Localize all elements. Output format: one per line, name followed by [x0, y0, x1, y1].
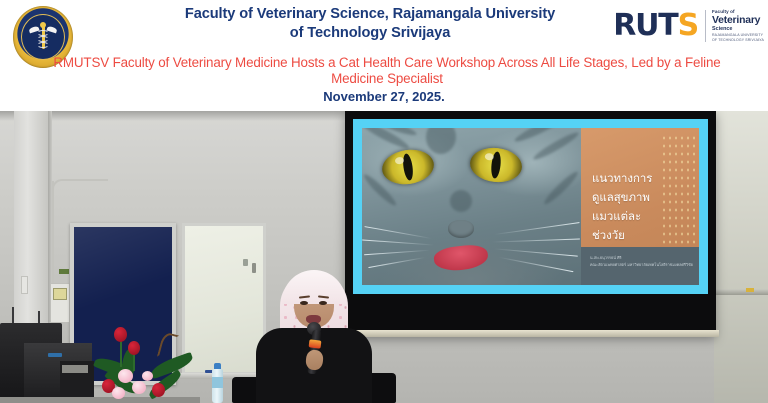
projection-screen: แนวทางการ ดูแลสุขภาพ แมวแต่ละ ช่วงวัย น.…	[345, 111, 716, 336]
av-papers	[62, 365, 88, 373]
slide-thai-line-1: แนวทางการ	[592, 169, 699, 188]
institution-title-line2: of Technology Srivijaya	[150, 24, 590, 43]
cat-nose	[448, 220, 474, 238]
slide-cat-photo	[362, 128, 581, 285]
ruts-wordmark-accent: S	[678, 8, 698, 43]
wall-rail-marker	[746, 288, 754, 292]
caduceus-coil-3	[37, 42, 49, 48]
fur-stripe	[425, 128, 457, 155]
presenter-eye-right	[319, 301, 327, 305]
av-indicator-light	[48, 353, 62, 357]
slide-thai-line-4: ช่วงวัย	[592, 226, 699, 245]
rose	[152, 383, 165, 397]
flower-arrangement	[88, 325, 208, 403]
slide-thai-line-2: ดูแลสุขภาพ	[592, 188, 699, 207]
wall-utility-label	[53, 288, 67, 300]
carnation	[118, 369, 133, 383]
rose	[114, 327, 127, 342]
carnation	[132, 381, 146, 394]
wall-cable	[52, 181, 54, 285]
caduceus-icon	[30, 23, 56, 53]
water-bottle-label	[212, 377, 223, 388]
slide-footer-credit: น.สพ.ธนุวรรธน์ ศิริ คณะสัตวแพทยศาสตร์ มห…	[581, 247, 699, 285]
fur-stripe	[450, 190, 472, 212]
wall-switch	[59, 269, 69, 274]
presenter-eye-left	[300, 301, 308, 305]
event-date: November 27, 2025.	[0, 89, 768, 104]
wall-cable-bend	[52, 179, 108, 193]
institution-title-line1: Faculty of Veterinary Science, Rajamanga…	[150, 5, 590, 24]
hijab-front-edge	[282, 270, 346, 304]
wall-plate	[21, 276, 28, 294]
cat-pupil-left	[402, 153, 415, 181]
ruts-logo-text: Faculty of Veterinary Science RAJAMANGAL…	[712, 9, 764, 42]
slide-footer-line-2: คณะสัตวแพทยศาสตร์ มหาวิทยาลัยเทคโนโลยีรา…	[590, 261, 699, 268]
slide-footer-line-1: น.สพ.ธนุวรรธน์ ศิริ	[590, 254, 699, 261]
ruts-wordmark: RUTS	[613, 11, 698, 41]
wall-right-of-screen	[714, 111, 768, 403]
ruts-text-line3: Science	[712, 26, 764, 33]
ruts-logo-divider	[705, 10, 706, 42]
ruts-wordmark-main: RUT	[613, 8, 677, 43]
projection-screen-bottom-bar	[345, 330, 719, 337]
event-photo: แนวทางการ ดูแลสุขภาพ แมวแต่ละ ช่วงวัย น.…	[0, 111, 768, 403]
whiteboard-clip-2	[243, 259, 248, 266]
ruts-logo: RUTS Faculty of Veterinary Science RAJAM…	[613, 4, 764, 48]
presenter	[248, 266, 380, 403]
ruts-text-line2: Veterinary	[712, 15, 764, 26]
projected-slide: แนวทางการ ดูแลสุขภาพ แมวแต่ละ ช่วงวัย น.…	[353, 119, 708, 294]
carnation	[112, 387, 125, 399]
carnation	[142, 371, 153, 381]
page-header: Faculty of Veterinary Science, Rajamanga…	[0, 0, 768, 111]
fur-stripe	[531, 130, 580, 163]
page-root: Faculty of Veterinary Science, Rajamanga…	[0, 0, 768, 403]
wall-rail	[716, 289, 768, 295]
cat-eye-highlight-right	[484, 153, 494, 161]
rose	[128, 341, 140, 355]
institution-title: Faculty of Veterinary Science, Rajamanga…	[150, 5, 590, 43]
ruts-text-line5: OF TECHNOLOGY SRIVIJAYA	[712, 38, 764, 43]
fur-stripe	[542, 169, 581, 207]
microphone-band	[309, 339, 322, 348]
slide-thai-line-3: แมวแต่ละ	[592, 207, 699, 226]
article-headline: RMUTSV Faculty of Veterinary Medicine Ho…	[28, 55, 746, 87]
caduceus-orb	[40, 22, 46, 28]
